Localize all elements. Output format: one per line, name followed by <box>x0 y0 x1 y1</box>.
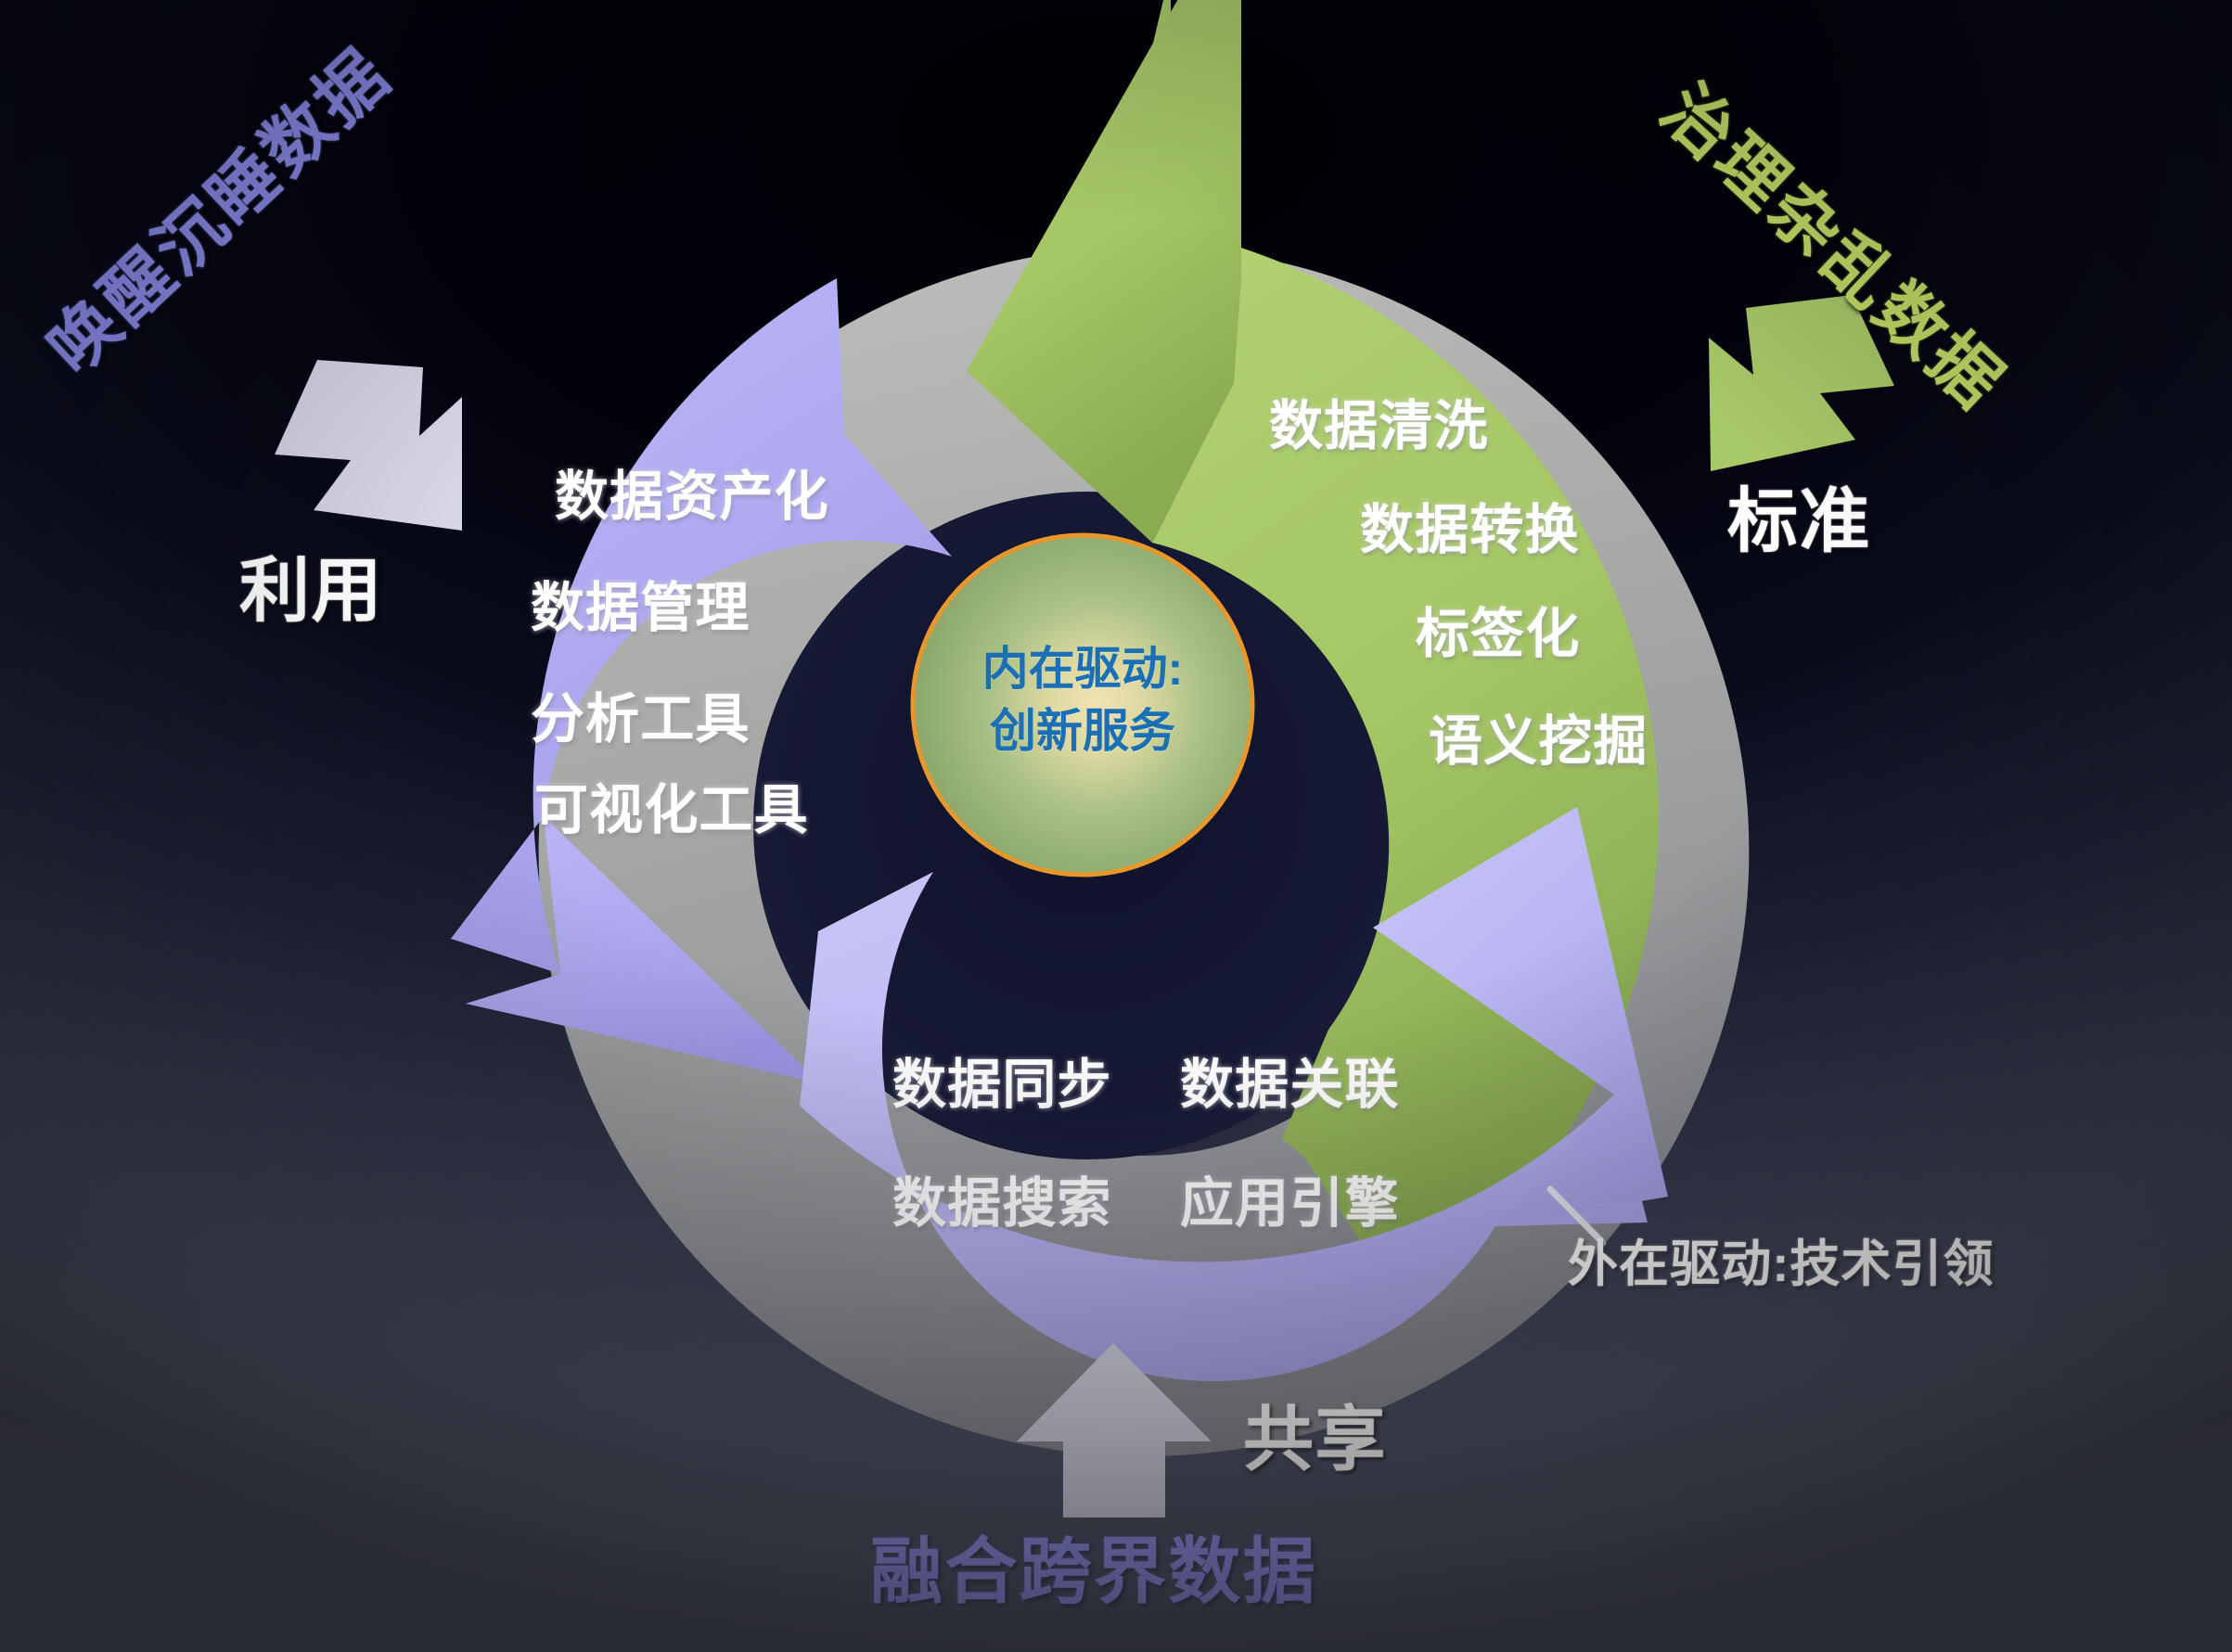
segment-share-item-1: 数据关联 <box>1180 1041 1400 1119</box>
segment-share-item-0: 数据同步 <box>892 1041 1112 1119</box>
hub-text: 内在驱动: 创新服务 <box>888 638 1277 762</box>
segment-share-item-3: 应用引擎 <box>1180 1159 1400 1237</box>
segment-standardize-item-0: 数据清洗 <box>1269 382 1489 460</box>
hub-line-1: 内在驱动: <box>888 638 1277 700</box>
stage-label-right: 标准 <box>1727 464 1871 566</box>
segment-utilize-item-0: 数据资产化 <box>555 453 829 531</box>
hub-line-2: 创新服务 <box>888 700 1277 762</box>
segment-utilize-item-1: 数据管理 <box>531 564 750 642</box>
caption-bottom: 融合跨界数据 <box>870 1514 1317 1618</box>
segment-utilize-item-3: 可视化工具 <box>534 766 809 844</box>
segment-standardize-item-3: 语义挖掘 <box>1429 698 1648 775</box>
annotation-external-driver: 外在驱动:技术引领 <box>1568 1223 1995 1296</box>
segment-standardize-item-2: 标签化 <box>1416 590 1580 668</box>
segment-standardize-item-1: 数据转换 <box>1360 486 1580 564</box>
slide-canvas: 唤醒沉睡数据 治理杂乱数据 利用 标准 共享 数据资产化 数据管理 分析工具 可… <box>0 0 2232 1652</box>
stage-label-bottom: 共享 <box>1243 1382 1387 1484</box>
stage-label-left: 利用 <box>239 533 383 635</box>
segment-share-item-2: 数据搜索 <box>892 1159 1112 1237</box>
segment-utilize-item-2: 分析工具 <box>531 675 750 753</box>
